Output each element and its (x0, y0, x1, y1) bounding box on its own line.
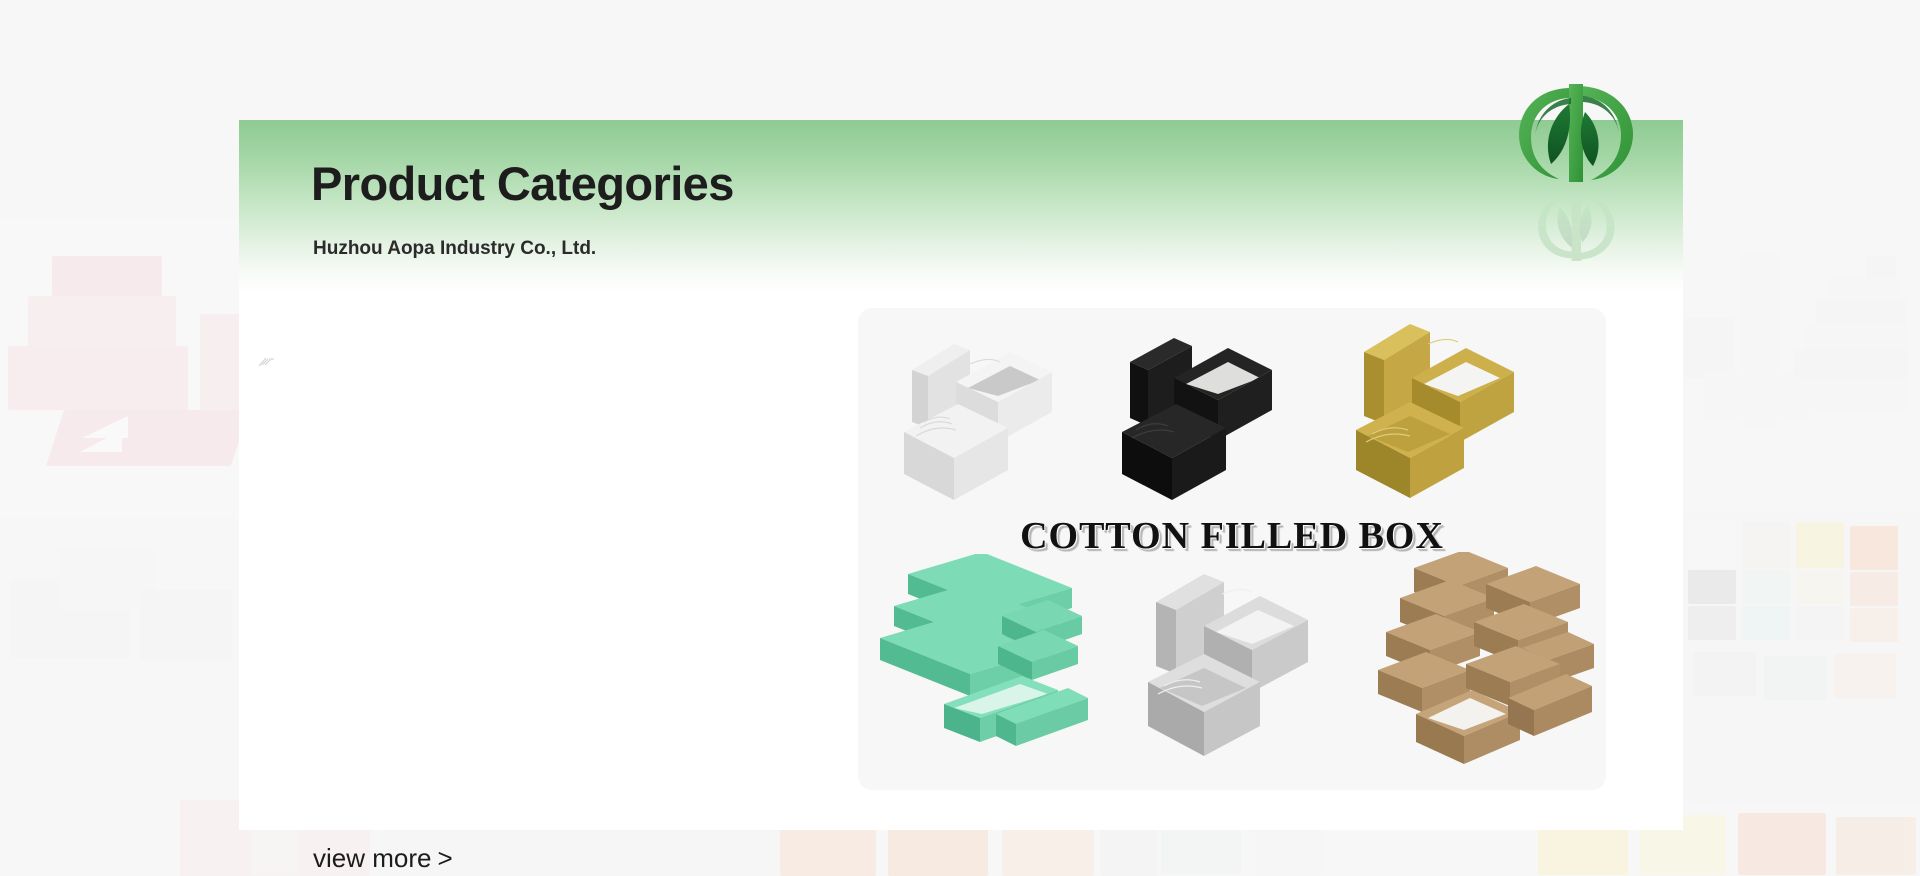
faint-text-artifact (257, 355, 279, 369)
product-categories-card: Product Categories Huzhou Aopa Industry … (239, 120, 1683, 830)
gold-cotton-filled-boxes (1348, 318, 1548, 518)
page-title: Product Categories (311, 156, 734, 211)
product-caption: COTTON FILLED BOX (858, 514, 1606, 558)
kraft-brown-cotton-filled-boxes (1370, 552, 1595, 782)
product-image-panel[interactable]: COTTON FILLED BOX (858, 308, 1606, 790)
company-name: Huzhou Aopa Industry Co., Ltd. (313, 238, 596, 260)
chevron-right-icon: > (437, 843, 452, 873)
black-cotton-filled-boxes (1116, 326, 1306, 516)
view-more-link[interactable]: view more> (313, 843, 453, 874)
background-pink-boxes-left (0, 218, 240, 518)
silver-cotton-filled-boxes (1138, 570, 1338, 780)
mint-green-cotton-filled-boxes (872, 554, 1112, 774)
background-white-boxes-right (1680, 220, 1920, 510)
background-color-stacks-right (1680, 512, 1920, 802)
white-embossed-cotton-filled-boxes (894, 324, 1084, 514)
view-more-label: view more (313, 843, 431, 873)
background-white-boxes-left-lower (0, 520, 240, 760)
